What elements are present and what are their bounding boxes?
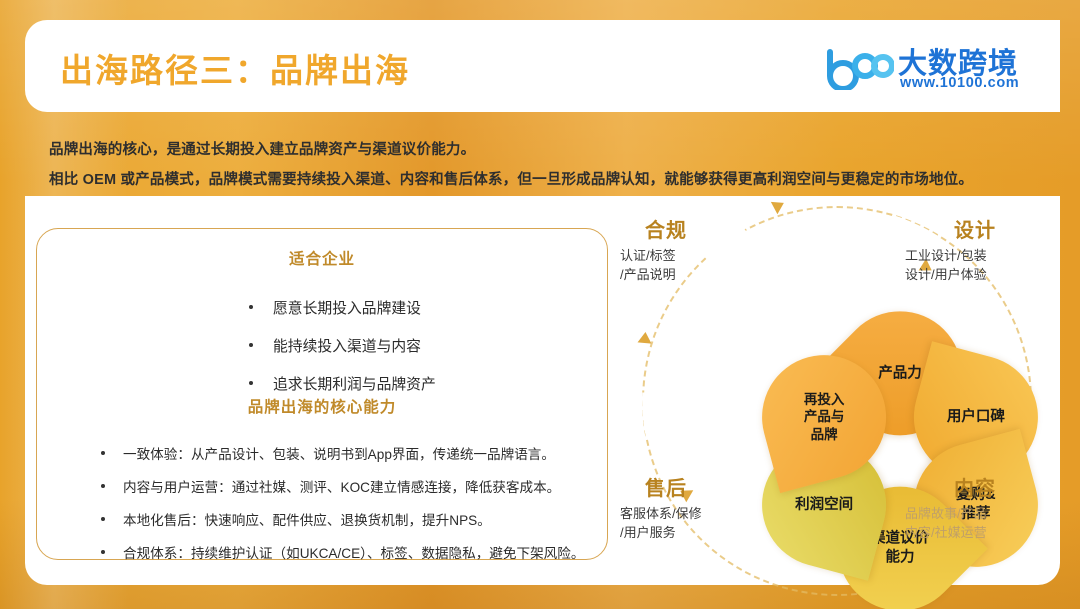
cycle-arrow-icon	[638, 331, 653, 343]
fit-company-list: 愿意长期投入品牌建设 能持续投入渠道与内容 追求长期利润与品牌资产	[207, 297, 436, 411]
corner-sub-2: /用户服务	[620, 524, 770, 543]
page-title: 出海路径三：品牌出海	[60, 44, 410, 92]
intro-band: 品牌出海的核心，是通过长期投入建立品牌资产与渠道议价能力。 相比 OEM 或产品…	[25, 118, 1060, 196]
corner-title: 设计	[905, 214, 1045, 243]
corner-sub-2: /产品说明	[620, 266, 770, 285]
list-item: 追求长期利润与品牌资产	[247, 373, 436, 394]
petal-reinvest-product-brand[interactable]: 再投入 产品与 品牌	[748, 341, 900, 493]
logo-mark-icon	[820, 46, 894, 95]
core-capability-list: 一致体验：从产品设计、包装、说明书到App界面，传递统一品牌语言。 内容与用户运…	[55, 443, 584, 575]
slide-root: 出海路径三：品牌出海 大数跨境 www.10100.com 品牌出海的核心，是通…	[0, 0, 1080, 609]
brand-logo[interactable]: 大数跨境 www.10100.com	[820, 42, 1030, 96]
corner-sub-1: 认证/标签	[620, 247, 770, 266]
heading-fit-companies: 适合企业	[37, 247, 607, 269]
intro-line-1: 品牌出海的核心，是通过长期投入建立品牌资产与渠道议价能力。	[49, 138, 475, 159]
corner-label-compliance: 合规 认证/标签 /产品说明	[620, 214, 770, 285]
list-item: 能持续投入渠道与内容	[247, 335, 436, 356]
corner-label-design: 设计 工业设计/包装 设计/用户体验	[905, 214, 1055, 285]
list-item: 一致体验：从产品设计、包装、说明书到App界面，传递统一品牌语言。	[95, 443, 584, 463]
corner-sub-2: 内容/社媒运营	[905, 524, 1055, 543]
body-card: 适合企业 愿意长期投入品牌建设 能持续投入渠道与内容 追求长期利润与品牌资产 品…	[25, 196, 1060, 585]
petal-label: 再投入 产品与 品牌	[762, 355, 886, 479]
logo-url-text: www.10100.com	[900, 75, 1019, 91]
corner-title: 合规	[620, 214, 712, 243]
brand-cycle-diagram: 产品力 用户口碑 复购& 推荐 渠道议价 能力 利润空间 再投入 产品与 品牌	[620, 214, 1050, 574]
header-card: 出海路径三：品牌出海 大数跨境 www.10100.com	[25, 20, 1060, 112]
corner-sub-2: 设计/用户体验	[905, 266, 1055, 285]
list-item: 愿意长期投入品牌建设	[247, 297, 436, 318]
list-item: 合规体系：持续维护认证（如UKCA/CE）、标签、数据隐私，避免下架风险。	[95, 542, 584, 562]
list-item: 内容与用户运营：通过社媒、测评、KOC建立情感连接，降低获客成本。	[95, 476, 584, 496]
left-info-box: 适合企业 愿意长期投入品牌建设 能持续投入渠道与内容 追求长期利润与品牌资产 品…	[36, 228, 608, 560]
corner-title: 售后	[620, 472, 712, 501]
list-item: 本地化售后：快速响应、配件供应、退换货机制，提升NPS。	[95, 509, 584, 529]
corner-sub-1: 品牌故事/产品	[905, 505, 1055, 524]
corner-label-content: 内容 品牌故事/产品 内容/社媒运营	[905, 472, 1055, 543]
corner-title: 内容	[905, 472, 1045, 501]
heading-core-capabilities: 品牌出海的核心能力	[37, 395, 607, 417]
intro-line-2: 相比 OEM 或产品模式，品牌模式需要持续投入渠道、内容和售后体系，但一旦形成品…	[49, 168, 973, 189]
corner-sub-1: 客服体系/保修	[620, 505, 770, 524]
corner-sub-1: 工业设计/包装	[905, 247, 1055, 266]
corner-label-aftersales: 售后 客服体系/保修 /用户服务	[620, 472, 770, 543]
